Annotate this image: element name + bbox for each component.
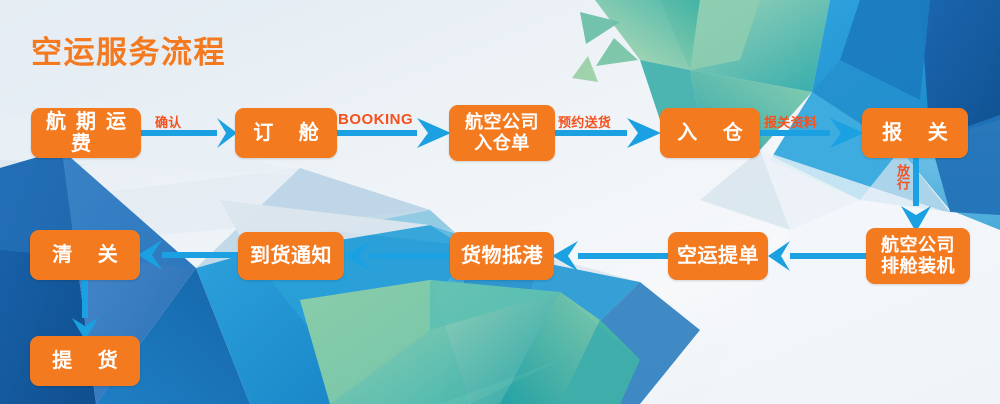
edge-label-delivery-appointment: 预约送货 bbox=[558, 112, 611, 131]
flowchart-canvas: 空运服务流程 bbox=[0, 0, 1000, 404]
node-airline-warehouse-order[interactable]: 航空公司 入仓单 bbox=[449, 105, 555, 161]
edge-label-customs-documents: 报关资料 bbox=[764, 112, 817, 131]
node-customs-declaration[interactable]: 报 关 bbox=[862, 108, 968, 158]
node-customs-clearance[interactable]: 清 关 bbox=[30, 230, 140, 280]
connector-arrows bbox=[0, 0, 1000, 404]
node-airfare[interactable]: 航期运费 bbox=[31, 108, 141, 158]
node-airline-loading[interactable]: 航空公司 排舱装机 bbox=[866, 228, 970, 284]
edge-label-release: 放行 bbox=[896, 164, 909, 190]
node-warehouse-in[interactable]: 入 仓 bbox=[660, 108, 760, 158]
node-air-waybill[interactable]: 空运提单 bbox=[668, 232, 768, 280]
edge-label-booking: BOOKING bbox=[338, 111, 413, 128]
node-booking[interactable]: 订 舱 bbox=[235, 108, 337, 158]
node-cargo-arrival[interactable]: 货物抵港 bbox=[450, 232, 554, 280]
node-pickup[interactable]: 提 货 bbox=[30, 336, 140, 386]
node-arrival-notice[interactable]: 到货通知 bbox=[238, 232, 344, 280]
edge-label-confirm: 确认 bbox=[155, 112, 182, 131]
